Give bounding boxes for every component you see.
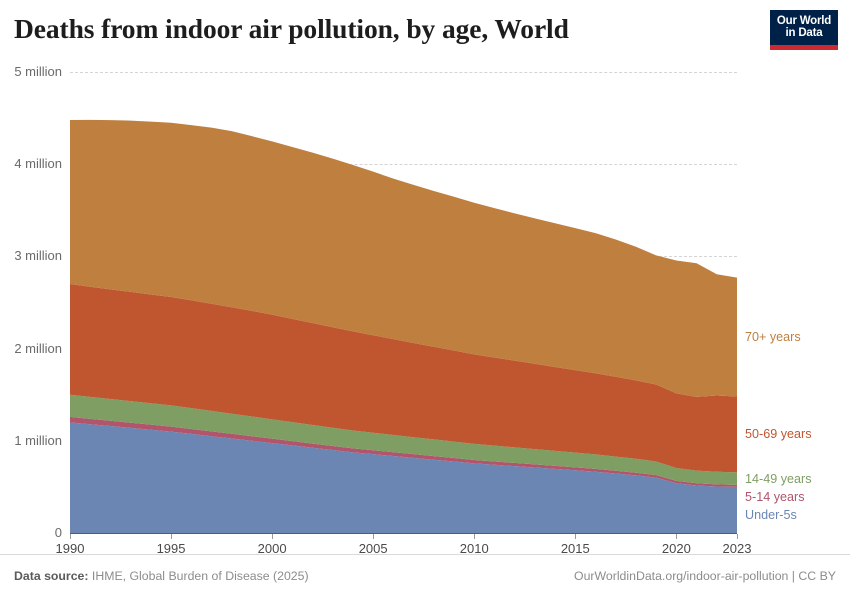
page-title: Deaths from indoor air pollution, by age…	[14, 13, 569, 45]
chart-plot-area: 01 million2 million3 million4 million5 m…	[0, 62, 850, 554]
chart-page: Deaths from indoor air pollution, by age…	[0, 0, 850, 600]
chart-footer: Data source: IHME, Global Burden of Dise…	[0, 554, 850, 600]
series-label-70-years[interactable]: 70+ years	[745, 331, 801, 344]
owid-logo[interactable]: Our World in Data	[770, 10, 838, 50]
series-legend: 70+ years50-69 years14-49 years5-14 year…	[0, 62, 850, 554]
series-label-under-5s[interactable]: Under-5s	[745, 509, 797, 522]
series-label-5-14-years[interactable]: 5-14 years	[745, 491, 805, 504]
data-source: Data source: IHME, Global Burden of Dise…	[14, 569, 309, 583]
data-source-label: Data source:	[14, 569, 89, 583]
series-label-50-69-years[interactable]: 50-69 years	[745, 428, 812, 441]
data-source-text: IHME, Global Burden of Disease (2025)	[89, 569, 309, 583]
attribution-link[interactable]: OurWorldinData.org/indoor-air-pollution …	[574, 569, 836, 583]
owid-logo-line2: in Data	[786, 27, 823, 40]
chart-header: Deaths from indoor air pollution, by age…	[0, 0, 850, 62]
series-label-14-49-years[interactable]: 14-49 years	[745, 473, 812, 486]
owid-logo-line1: Our World	[777, 15, 831, 28]
